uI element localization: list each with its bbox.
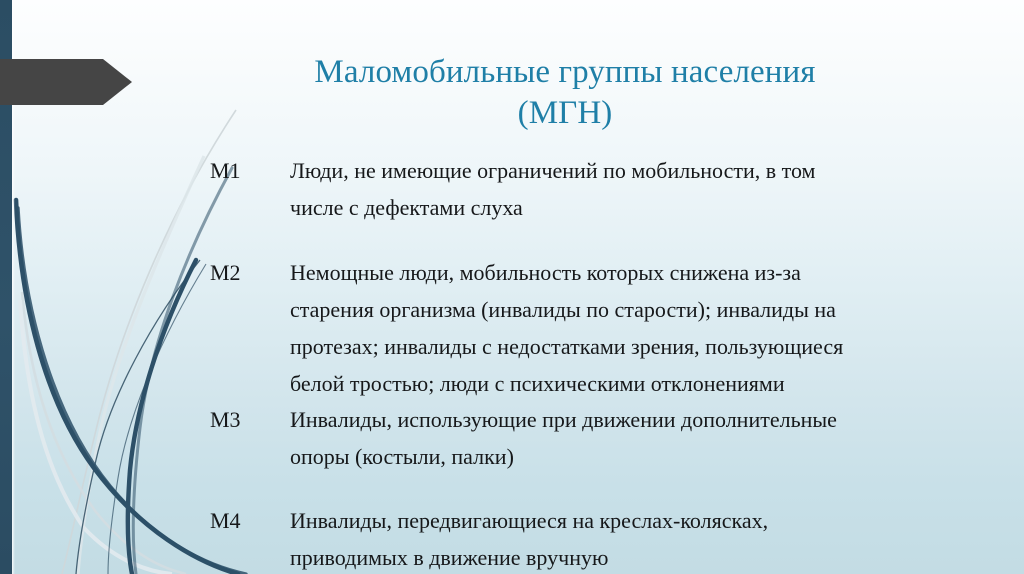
swoosh-curve-navy-1 bbox=[16, 200, 238, 574]
swoosh-curve-thin-dark-2 bbox=[108, 264, 206, 574]
arrow-banner-shape bbox=[0, 59, 132, 105]
definition-text-m4-line-1: Инвалиды, передвигающиеся на креслах-кол… bbox=[290, 502, 935, 539]
definition-text-m3-line-2: опоры (костыли, палки) bbox=[290, 438, 935, 475]
slide-title: Маломобильные группы населения (МГН) bbox=[185, 52, 945, 134]
definition-text-m4-line-2: приводимых в движение вручную bbox=[290, 539, 935, 574]
slide-title-line-2: (МГН) bbox=[185, 93, 945, 134]
definition-code-m2: M2 bbox=[210, 254, 290, 291]
definition-text-m3-line-1: Инвалиды, использующие при движении допо… bbox=[290, 401, 935, 438]
swoosh-curve-navy-3 bbox=[128, 260, 196, 574]
definition-text-m2: Немощные люди, мобильность которых сниже… bbox=[290, 254, 935, 402]
definition-text-m1-line-2: числе с дефектами слуха bbox=[290, 189, 935, 226]
definition-row-m1: M1 Люди, не имеющие ограничений по мобил… bbox=[210, 152, 970, 226]
definition-row-m4: M4 Инвалиды, передвигающиеся на креслах-… bbox=[210, 502, 970, 574]
swoosh-curve-pale-2 bbox=[22, 292, 186, 574]
definition-text-m2-line-4: белой тростью; люди с психическими откло… bbox=[290, 365, 935, 402]
swoosh-curve-thin-dark-1 bbox=[76, 260, 200, 574]
definition-text-m4: Инвалиды, передвигающиеся на креслах-кол… bbox=[290, 502, 935, 574]
definition-code-m1: M1 bbox=[210, 152, 290, 189]
definition-text-m1-line-1: Люди, не имеющие ограничений по мобильно… bbox=[290, 152, 935, 189]
definition-code-m4: M4 bbox=[210, 502, 290, 539]
definition-text-m1: Люди, не имеющие ограничений по мобильно… bbox=[290, 152, 935, 226]
definition-text-m2-line-2: старения организма (инвалиды по старости… bbox=[290, 291, 935, 328]
swoosh-curve-pale-3 bbox=[20, 300, 172, 574]
definition-code-m3: M3 bbox=[210, 401, 290, 438]
slide-title-line-1: Маломобильные группы населения bbox=[185, 52, 945, 93]
presentation-slide: Маломобильные группы населения (МГН) M1 … bbox=[0, 0, 1024, 574]
definition-text-m3: Инвалиды, использующие при движении допо… bbox=[290, 401, 935, 475]
definition-text-m2-line-3: протезах; инвалиды с недостатками зрения… bbox=[290, 328, 935, 365]
definition-row-m2: M2 Немощные люди, мобильность которых сн… bbox=[210, 254, 970, 402]
definition-row-m3: M3 Инвалиды, использующие при движении д… bbox=[210, 401, 970, 475]
swoosh-curve-pale-4 bbox=[78, 156, 204, 574]
definition-text-m2-line-1: Немощные люди, мобильность которых сниже… bbox=[290, 254, 935, 291]
